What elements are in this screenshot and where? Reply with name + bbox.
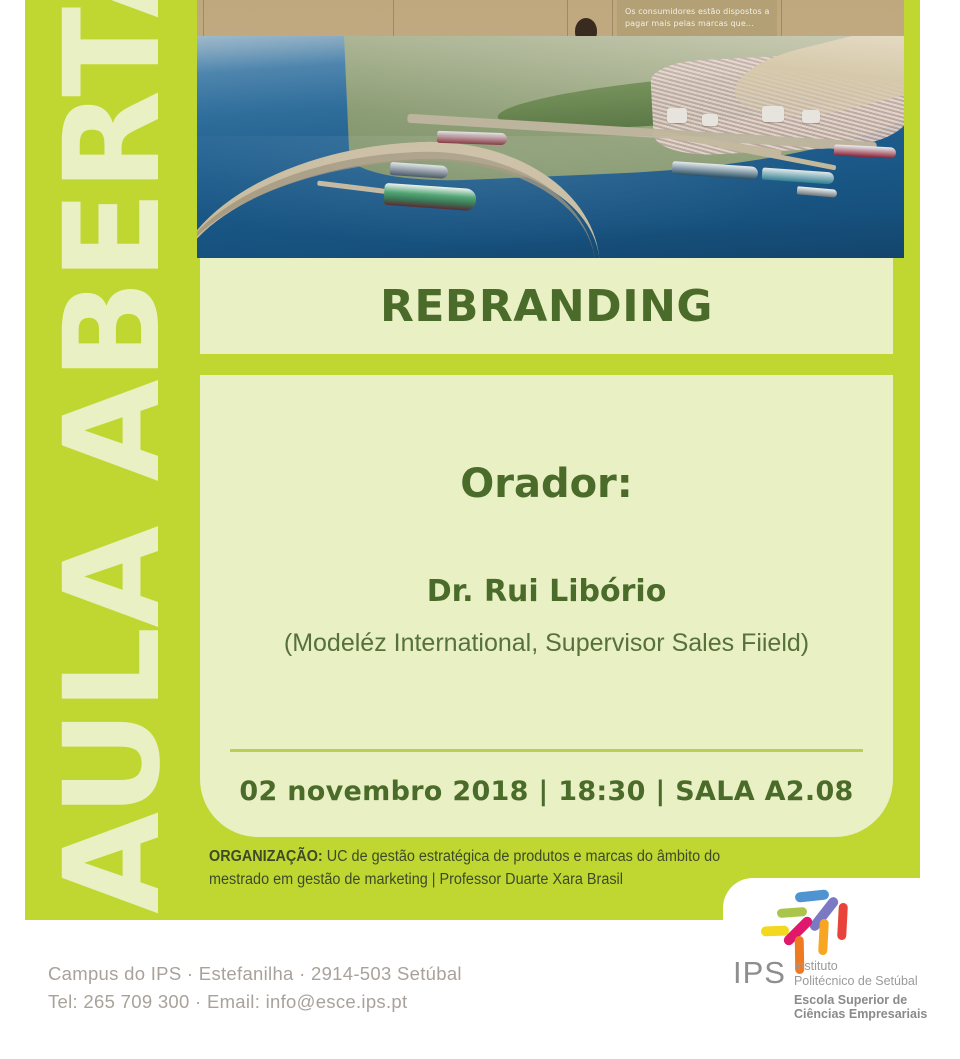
page-title: REBRANDING — [380, 281, 713, 332]
speaker-name: Dr. Rui Libório — [427, 574, 667, 609]
event-datetime-room: 02 novembro 2018 | 18:30 | SALA A2.08 — [239, 776, 853, 807]
institute-line-2: Politécnico de Setúbal — [794, 974, 918, 988]
footer-address: Campus do IPS · Estefanilha · 2914-503 S… — [48, 960, 462, 988]
ips-logo-text: IPS Instituto Politécnico de Setúbal Esc… — [733, 957, 927, 1022]
institute-line-1: Instituto — [794, 959, 838, 973]
vertical-title-text: AULA ABERTA — [25, 0, 200, 920]
storage-tank — [762, 106, 784, 122]
organization-label: ORGANIZAÇÃO: — [209, 848, 323, 865]
event-poster: AULA ABERTA Os consumidores estão dispos… — [0, 0, 960, 1059]
storage-tank — [802, 110, 820, 123]
storage-tank — [667, 108, 687, 123]
event-title-card: REBRANDING — [200, 258, 893, 354]
footer-contact-line: Tel: 265 709 300 · Email: info@esce.ips.… — [48, 988, 462, 1016]
organization-block: ORGANIZAÇÃO: UC de gestão estratégica de… — [209, 845, 823, 892]
speaker-affiliation: (Modeléz International, Supervisor Sales… — [284, 629, 809, 658]
speaker-label: Orador: — [460, 461, 633, 507]
vertical-title-band: AULA ABERTA — [25, 0, 200, 920]
ips-logo-card: IPS Instituto Politécnico de Setúbal Esc… — [723, 878, 960, 1026]
ips-acronym: IPS — [733, 957, 786, 988]
school-line-1: Escola Superior de — [794, 993, 907, 1007]
event-details-card: Orador: Dr. Rui Libório (Modeléz Interna… — [200, 375, 893, 837]
divider — [230, 749, 863, 752]
footer-contact: Campus do IPS · Estefanilha · 2914-503 S… — [48, 960, 462, 1016]
organization-line2: mestrado em gestão de marketing | Profes… — [209, 871, 623, 888]
hero-image: Os consumidores estão dispostos a pagar … — [197, 0, 904, 258]
organization-line1: UC de gestão estratégica de produtos e m… — [323, 848, 720, 865]
school-line-2: Ciências Empresariais — [794, 1007, 927, 1021]
sea-highlight — [197, 136, 904, 258]
storage-tank — [702, 114, 718, 126]
aerial-port-photo — [197, 36, 904, 258]
